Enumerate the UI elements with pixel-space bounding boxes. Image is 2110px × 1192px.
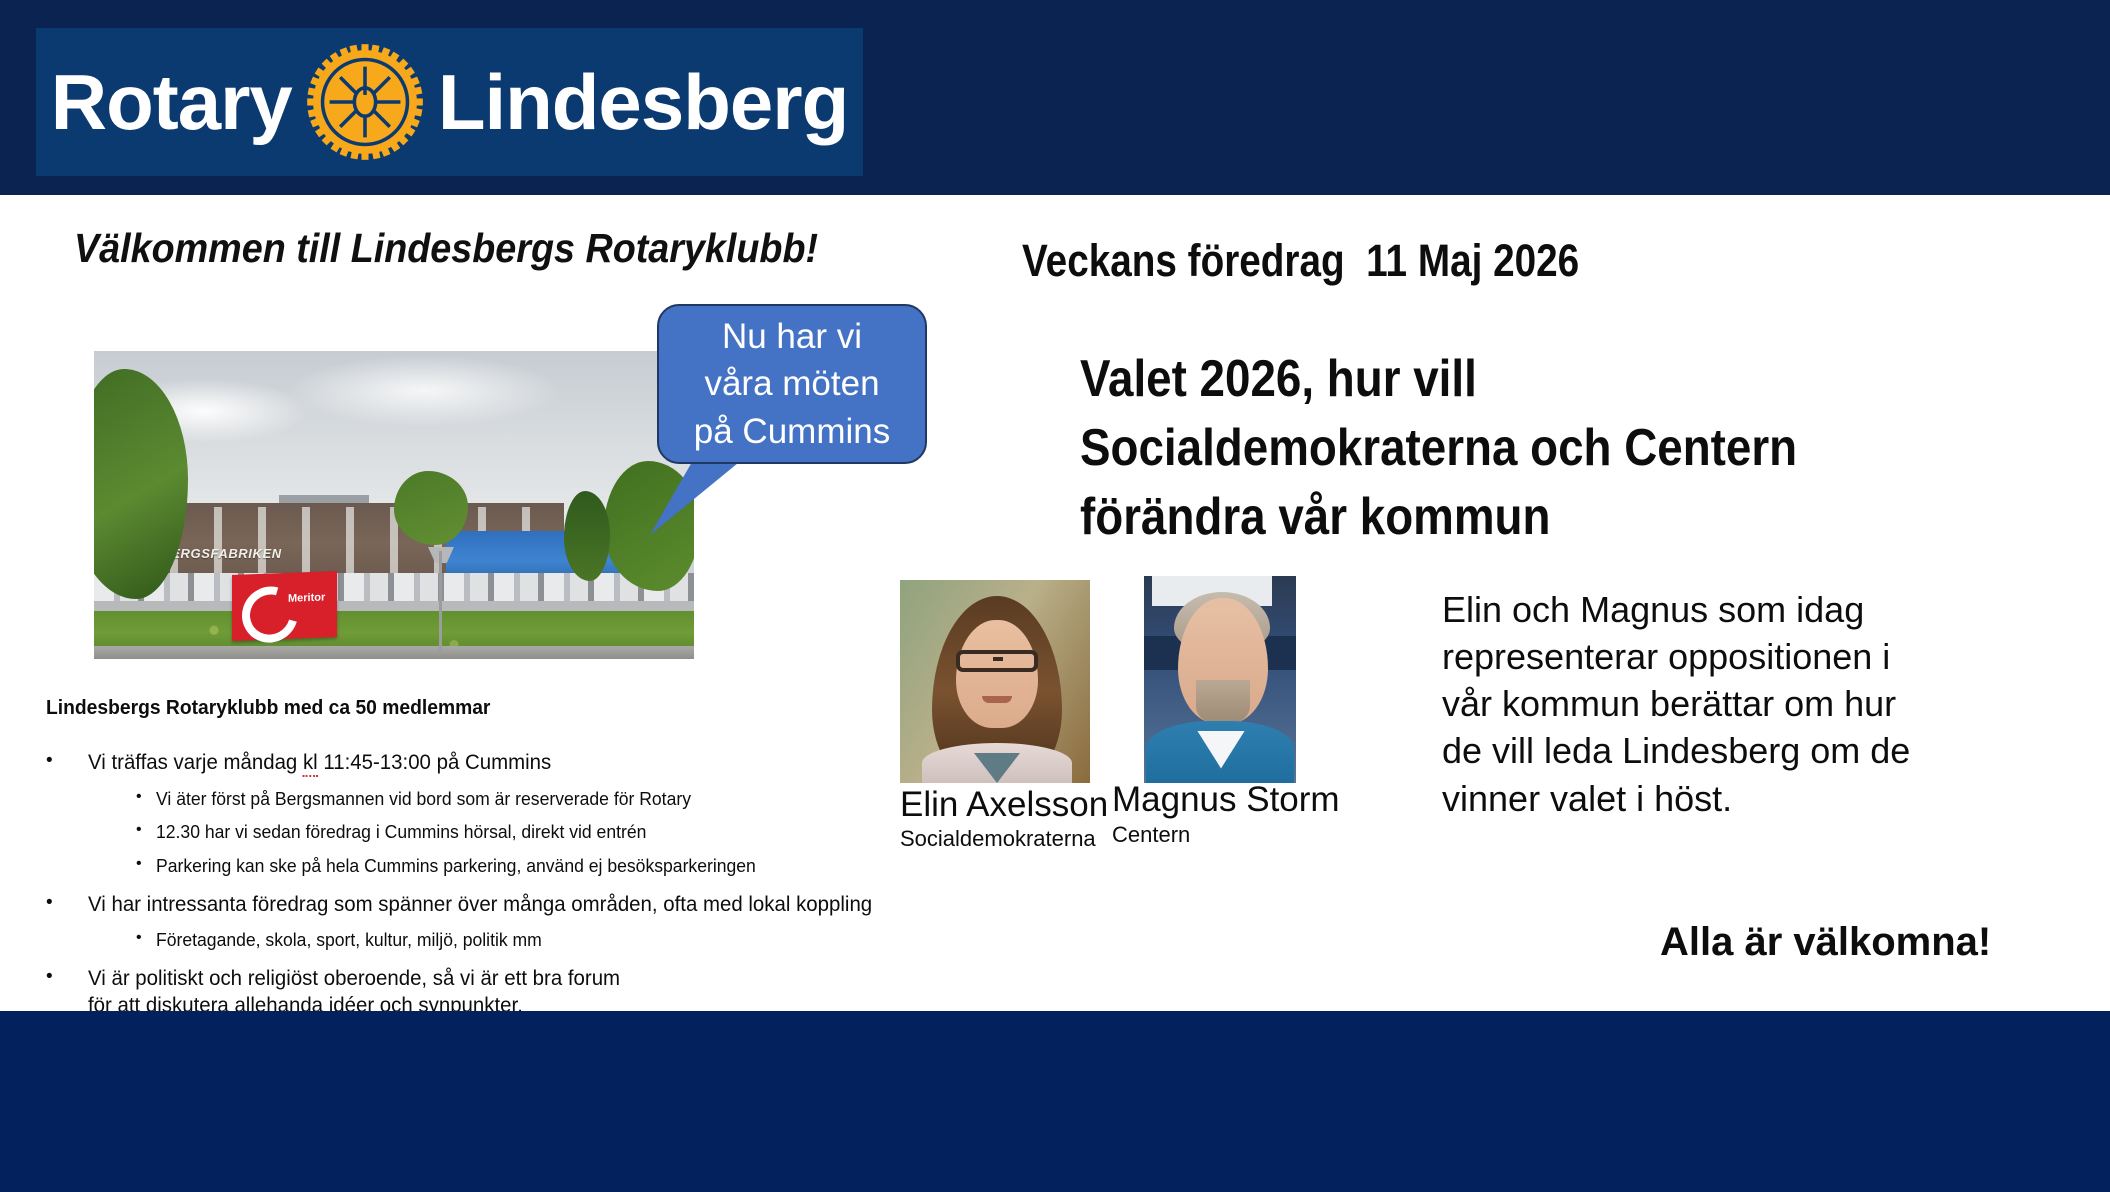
bullet-text: Företagande, skola, sport, kultur, miljö…: [156, 928, 542, 952]
presentation-slide: Rotary: [0, 0, 2110, 1192]
bullet-item-level-2: •Vi äter först på Bergsmannen vid bord s…: [46, 787, 946, 811]
talk-title: Valet 2026, hur vill Socialdemokraterna …: [1080, 345, 1898, 552]
club-members-heading: Lindesbergs Rotaryklubb med ca 50 medlem…: [46, 696, 490, 720]
speaker-party-magnus: Centern: [1112, 822, 1190, 848]
bubble-line-2: våra möten: [704, 362, 879, 405]
bullet-marker-icon: •: [46, 820, 156, 840]
photo-tree-mid: [394, 471, 468, 545]
photo-parked-cars: [94, 573, 694, 603]
weekly-talk-header: Veckans föredrag 11 Maj 2026: [1022, 235, 1579, 287]
club-info-bullet-list: •Vi träffas varje måndag kl 11:45-13:00 …: [46, 736, 946, 1020]
elin-glasses-icon: [956, 650, 1038, 672]
bullet-text: Vi äter först på Bergsmannen vid bord so…: [156, 787, 691, 811]
photo-sign-brand: Meritor: [288, 591, 325, 604]
bullet-marker-icon: •: [46, 928, 156, 948]
photo-sidewalk: [94, 646, 694, 659]
logo-word-lindesberg: Lindesberg: [438, 63, 848, 141]
photo-lamp-post: [439, 551, 442, 653]
bullet-marker-icon: •: [46, 787, 156, 807]
speaker-name-elin: Elin Axelsson: [900, 785, 1108, 825]
photo-tree-far-right: [564, 491, 610, 581]
bullet-text: Vi har intressanta föredrag som spänner …: [88, 891, 872, 919]
speaker-photo-magnus-storm: [1144, 576, 1296, 783]
bullet-marker-icon: •: [46, 749, 88, 773]
cummins-factory-photo: LINDESBERGSFABRIKEN Meritor: [94, 351, 694, 659]
logo-word-rotary: Rotary: [51, 63, 292, 141]
speech-bubble-cummins: Nu har vi våra möten på Cummins: [657, 304, 927, 464]
speaker-party-elin: Socialdemokraterna: [900, 826, 1096, 852]
elin-glasses-bridge: [993, 657, 1003, 661]
bullet-marker-icon: •: [46, 965, 88, 989]
bullet-text: 12.30 har vi sedan föredrag i Cummins hö…: [156, 820, 646, 844]
welcome-all-note: Alla är välkomna!: [1660, 920, 1991, 965]
bullet-text: Vi träffas varje måndag kl 11:45-13:00 p…: [88, 749, 551, 777]
elin-mouth: [982, 696, 1012, 703]
photo-cummins-sign: Meritor: [232, 571, 337, 641]
weekly-talk-date: 11 Maj 2026: [1366, 235, 1579, 286]
bubble-line-1: Nu har vi: [722, 315, 862, 358]
weekly-talk-label: Veckans föredrag: [1022, 235, 1345, 286]
elin-face: [956, 620, 1038, 728]
bullet-marker-icon: •: [46, 891, 88, 915]
bullet-item-level-2: •12.30 har vi sedan föredrag i Cummins h…: [46, 820, 946, 844]
bullet-item-level-1: •Vi har intressanta föredrag som spänner…: [46, 891, 946, 919]
bullet-marker-icon: •: [46, 854, 156, 874]
welcome-title: Välkommen till Lindesbergs Rotaryklubb!: [74, 225, 818, 272]
footer-band: [0, 1011, 2110, 1192]
header-band: Rotary: [0, 0, 2110, 195]
rotary-wheel-icon: [306, 43, 424, 161]
talk-description: Elin och Magnus som idag representerar o…: [1442, 586, 1942, 822]
magnus-beard: [1196, 680, 1250, 724]
speaker-photo-elin-axelsson: [900, 580, 1090, 783]
bullet-item-level-2: •Parkering kan ske på hela Cummins parke…: [46, 854, 946, 878]
spellcheck-flagged-word: kl: [303, 750, 318, 777]
bullet-item-level-2: •Företagande, skola, sport, kultur, milj…: [46, 928, 946, 952]
rotary-lindesberg-logo: Rotary: [36, 28, 863, 176]
bullet-text: Parkering kan ske på hela Cummins parker…: [156, 854, 756, 878]
speaker-name-magnus: Magnus Storm: [1112, 780, 1340, 820]
bullet-item-level-1: •Vi träffas varje måndag kl 11:45-13:00 …: [46, 749, 946, 777]
bubble-line-3: på Cummins: [694, 410, 890, 453]
